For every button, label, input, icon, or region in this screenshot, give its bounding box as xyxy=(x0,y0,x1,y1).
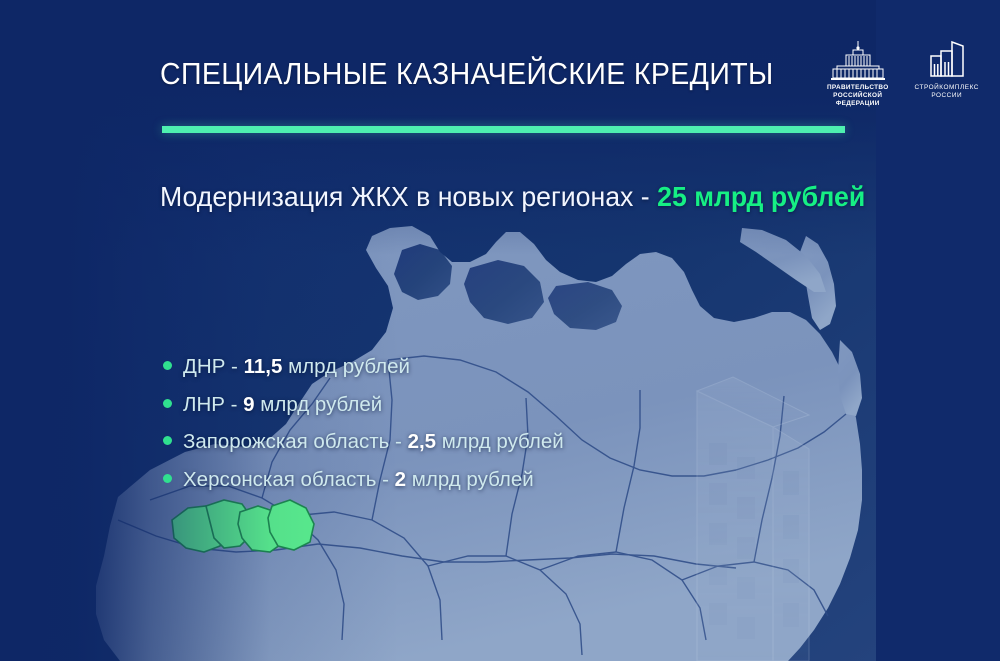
list-item: Запорожская область - 2,5 млрд рублей xyxy=(163,431,564,454)
allocation-region: Запорожская область - xyxy=(183,430,408,453)
allocation-region: ЛНР - xyxy=(183,393,243,416)
allocation-text: ДНР - 11,5 млрд рублей xyxy=(183,356,410,379)
poster-header: СПЕЦИАЛЬНЫЕ КАЗНАЧЕЙСКИЕ КРЕДИТЫ xyxy=(160,38,860,110)
bullet-dot-icon xyxy=(163,474,172,483)
allocation-unit: млрд рублей xyxy=(436,430,564,453)
government-building-icon xyxy=(829,40,887,80)
bullet-dot-icon xyxy=(163,361,172,370)
government-logo-caption: ПРАВИТЕЛЬСТВО РОССИЙСКОЙ ФЕДЕРАЦИИ xyxy=(827,84,889,107)
government-logo: ПРАВИТЕЛЬСТВО РОССИЙСКОЙ ФЕДЕРАЦИИ xyxy=(827,40,889,107)
allocation-unit: млрд рублей xyxy=(255,393,383,416)
accent-divider xyxy=(162,126,845,133)
page-title: СПЕЦИАЛЬНЫЕ КАЗНАЧЕЙСКИЕ КРЕДИТЫ xyxy=(160,58,774,91)
allocation-text: ЛНР - 9 млрд рублей xyxy=(183,394,382,417)
bullet-dot-icon xyxy=(163,399,172,408)
allocation-value: 9 xyxy=(243,393,254,416)
allocation-text: Херсонская область - 2 млрд рублей xyxy=(183,469,534,492)
stroykompleks-logo-caption: СТРОЙКОМПЛЕКС РОССИИ xyxy=(915,84,979,100)
allocation-region: Херсонская область - xyxy=(183,468,395,491)
allocation-unit: млрд рублей xyxy=(282,355,410,378)
list-item: ДНР - 11,5 млрд рублей xyxy=(163,356,564,379)
subtitle-prefix: Модернизация ЖКХ в новых регионах - xyxy=(160,181,657,212)
allocation-unit: млрд рублей xyxy=(406,468,534,491)
allocation-value: 11,5 xyxy=(244,355,283,378)
allocation-value: 2 xyxy=(395,468,406,491)
infographic-poster: СПЕЦИАЛЬНЫЕ КАЗНАЧЕЙСКИЕ КРЕДИТЫ xyxy=(0,0,1000,661)
logo-group: ПРАВИТЕЛЬСТВО РОССИЙСКОЙ ФЕДЕРАЦИИ СТРОЙ… xyxy=(827,40,979,107)
allocations-list: ДНР - 11,5 млрд рублей ЛНР - 9 млрд рубл… xyxy=(163,356,564,506)
list-item: Херсонская область - 2 млрд рублей xyxy=(163,469,564,492)
allocation-value: 2,5 xyxy=(408,430,437,453)
subtitle: Модернизация ЖКХ в новых регионах - 25 м… xyxy=(160,182,865,212)
list-item: ЛНР - 9 млрд рублей xyxy=(163,394,564,417)
allocation-text: Запорожская область - 2,5 млрд рублей xyxy=(183,431,564,454)
bullet-dot-icon xyxy=(163,436,172,445)
subtitle-amount: 25 млрд рублей xyxy=(657,181,865,212)
buildings-outline-icon xyxy=(925,40,969,80)
allocation-region: ДНР - xyxy=(183,355,244,378)
stroykompleks-logo: СТРОЙКОМПЛЕКС РОССИИ xyxy=(915,40,979,100)
